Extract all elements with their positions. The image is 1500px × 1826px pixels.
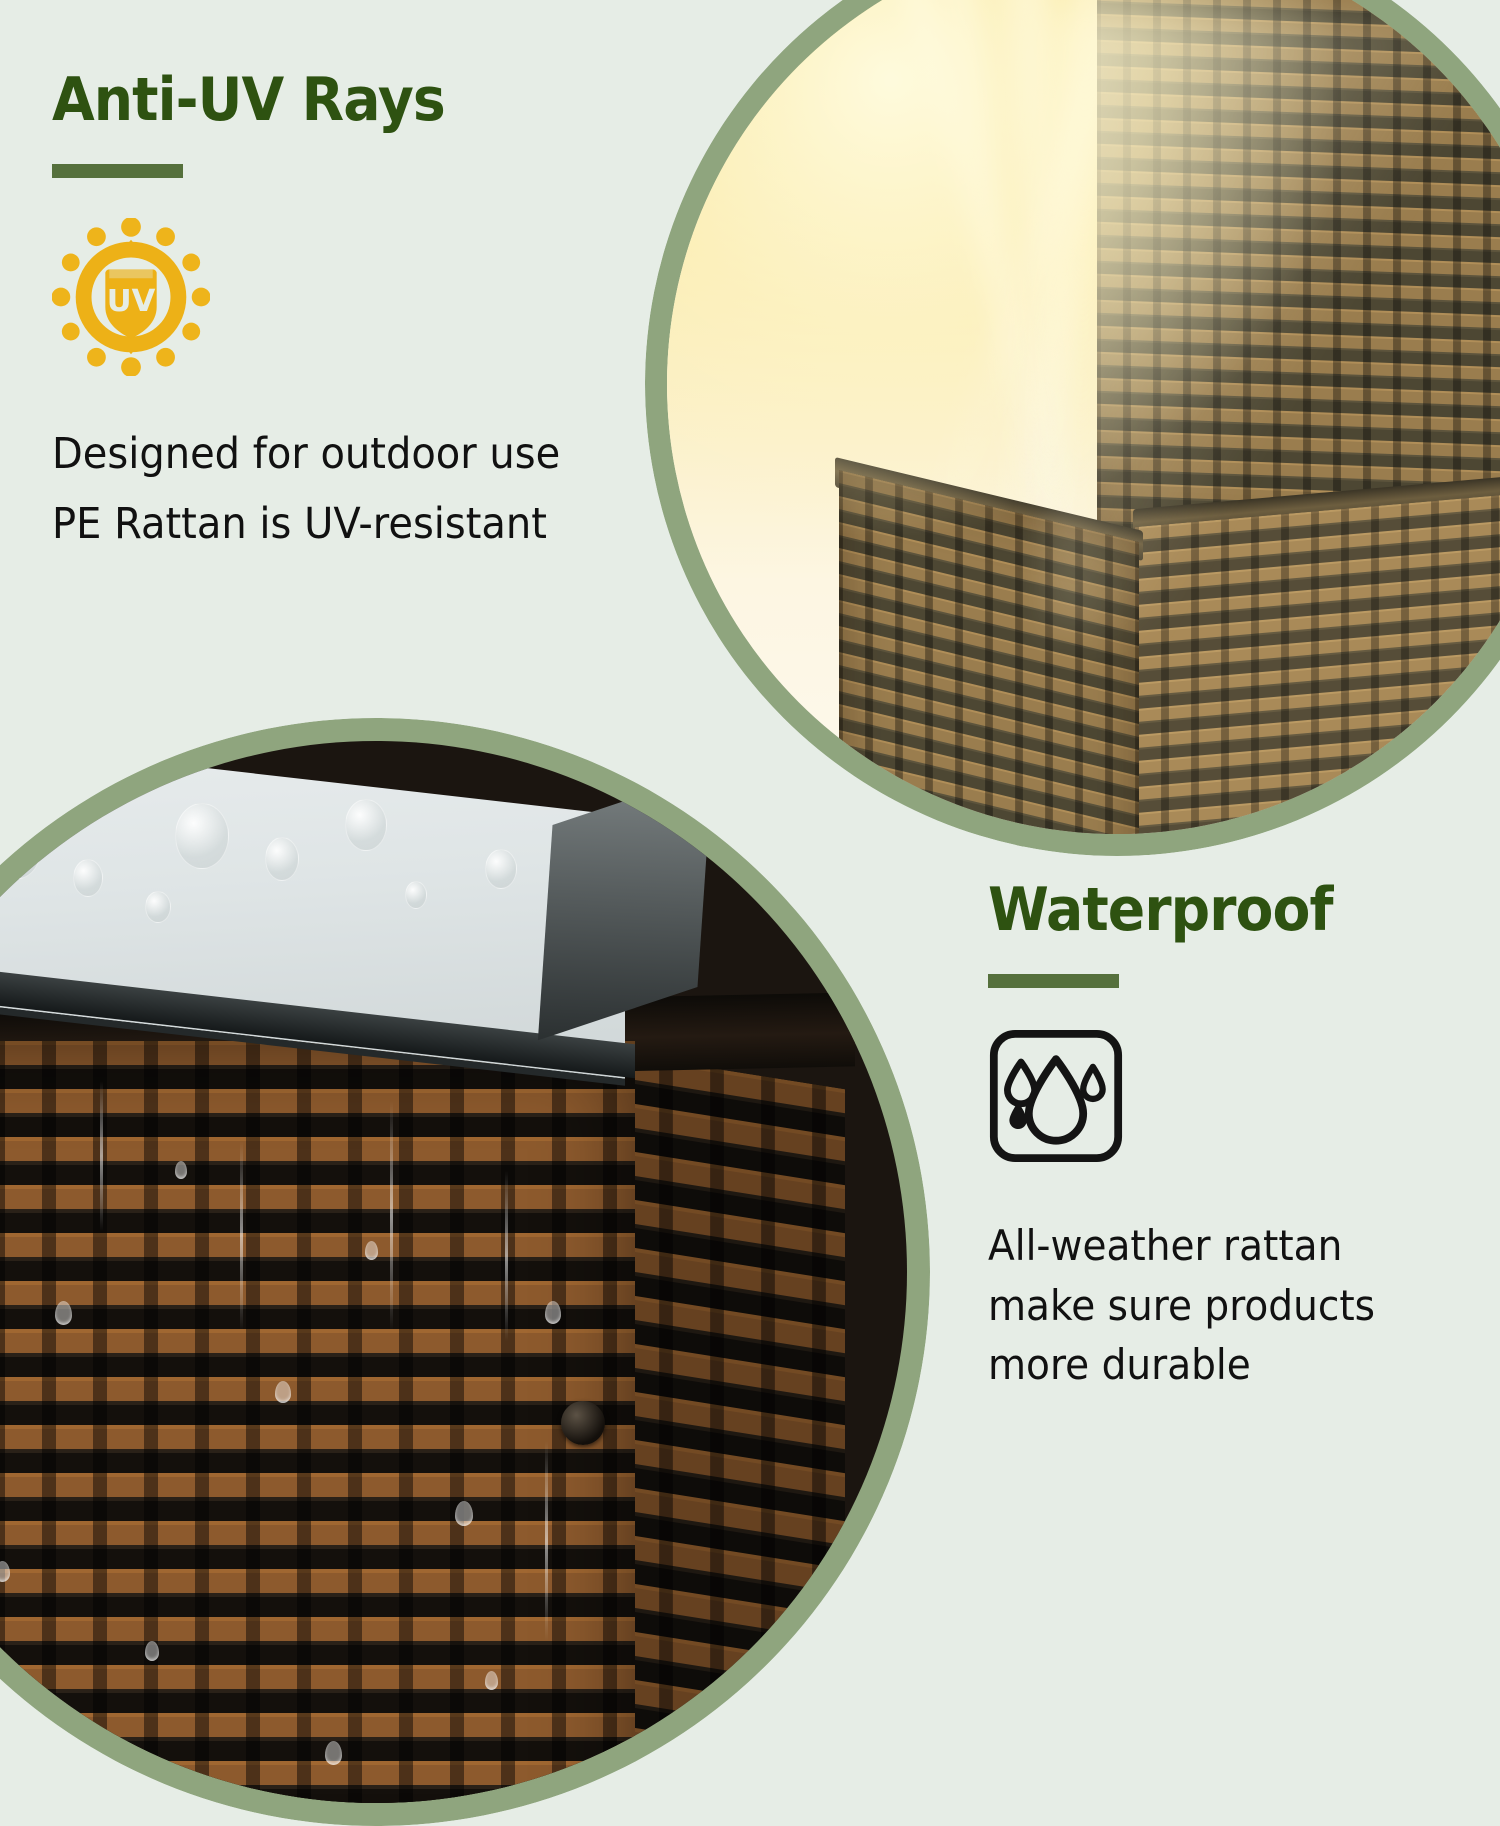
infographic-canvas: Anti-UV Rays	[0, 0, 1500, 1500]
rattan-side-panel	[615, 1053, 845, 1803]
water-droplet	[485, 1671, 498, 1690]
water-bead	[175, 803, 229, 869]
anti-uv-title: Anti-UV Rays	[52, 70, 659, 130]
waterproof-feature-block: Waterproof All-weather rattan make sure …	[988, 880, 1488, 1395]
water-droplet	[175, 1161, 187, 1179]
water-streak	[390, 1101, 393, 1331]
water-bead	[145, 891, 171, 923]
uv-icon-label: UV	[107, 284, 156, 319]
water-bead	[345, 799, 387, 851]
waterproof-title: Waterproof	[988, 880, 1448, 940]
anti-uv-feature-block: Anti-UV Rays	[52, 70, 712, 559]
water-streak	[545, 1441, 548, 1641]
water-streak	[505, 1171, 508, 1341]
water-droplet	[325, 1741, 342, 1765]
water-bead	[265, 837, 299, 881]
water-bead	[405, 881, 427, 909]
anti-uv-body-line: PE Rattan is UV-resistant	[52, 490, 666, 560]
water-streak	[240, 1141, 243, 1331]
water-droplet	[365, 1241, 378, 1260]
waterproof-photo	[0, 741, 907, 1803]
anti-uv-body-line: Designed for outdoor use	[52, 420, 666, 490]
anti-uv-photo	[667, 0, 1500, 834]
waterproof-body-line: more durable	[988, 1335, 1453, 1395]
uv-sun-shield-icon: UV	[52, 218, 712, 376]
water-droplet	[455, 1501, 473, 1526]
waterproof-body: All-weather rattan make sure products mo…	[988, 1216, 1453, 1395]
water-streak	[100, 1081, 103, 1231]
waterproof-title-rule	[988, 974, 1119, 988]
water-droplet	[145, 1641, 159, 1661]
anti-uv-title-rule	[52, 164, 183, 178]
rattan-right-panel	[1135, 473, 1500, 834]
rattan-front-panel	[0, 1041, 635, 1803]
anti-uv-body: Designed for outdoor use PE Rattan is UV…	[52, 420, 666, 559]
box-hardware-knob	[561, 1401, 605, 1445]
sunlit-rattan-scene	[667, 0, 1500, 834]
water-droplet	[275, 1381, 291, 1403]
water-bead	[73, 859, 103, 897]
waterproof-photo-circle	[0, 718, 930, 1826]
wet-rattan-scene	[0, 741, 907, 1803]
water-droplet-icon	[988, 1028, 1488, 1164]
waterproof-body-line: make sure products	[988, 1276, 1453, 1336]
waterproof-body-line: All-weather rattan	[988, 1216, 1453, 1276]
water-bead	[485, 849, 517, 889]
water-droplet	[545, 1301, 561, 1324]
anti-uv-photo-circle	[645, 0, 1500, 856]
water-droplet	[55, 1301, 72, 1325]
